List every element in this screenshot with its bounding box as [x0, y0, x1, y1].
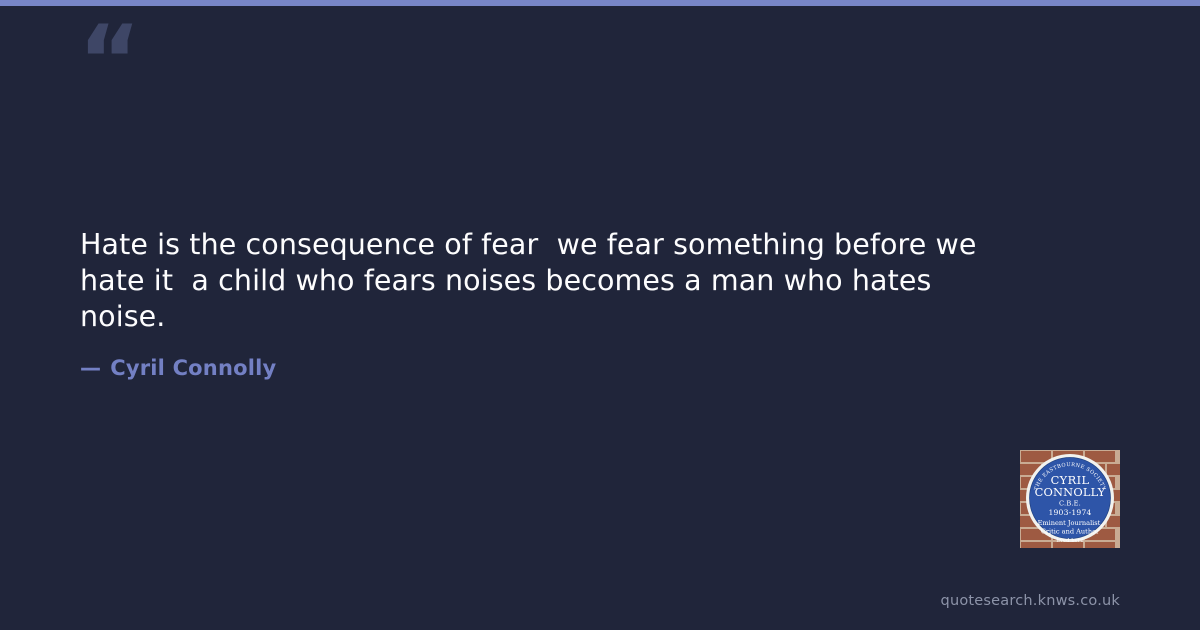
top-accent-bar	[0, 0, 1200, 6]
plaque-name-line-2: CONNOLLY	[1035, 485, 1106, 499]
plaque-footer: lived here	[1056, 538, 1083, 544]
quote-card: “ Hate is the consequence of fear we fea…	[0, 0, 1200, 630]
attribution-dash: —	[80, 356, 101, 380]
plaque-description-line-1: Eminent Journalist,	[1038, 519, 1103, 527]
author-image-thumbnail[interactable]: THE EASTBOURNE SOCIETY CYRIL CONNOLLY C.…	[1020, 450, 1120, 548]
plaque-description-line-2: Critic and Author	[1041, 528, 1100, 536]
quote-text: Hate is the consequence of fear we fear …	[80, 227, 980, 335]
attribution-author-name: Cyril Connolly	[110, 356, 276, 380]
plaque-dates: 1903-1974	[1048, 508, 1091, 517]
plaque-honours: C.B.E.	[1059, 500, 1081, 508]
quote-attribution: —Cyril Connolly	[80, 356, 276, 380]
open-quote-icon: “	[78, 13, 139, 109]
blue-plaque-image: THE EASTBOURNE SOCIETY CYRIL CONNOLLY C.…	[1020, 450, 1120, 548]
site-watermark: quotesearch.knws.co.uk	[941, 593, 1120, 609]
